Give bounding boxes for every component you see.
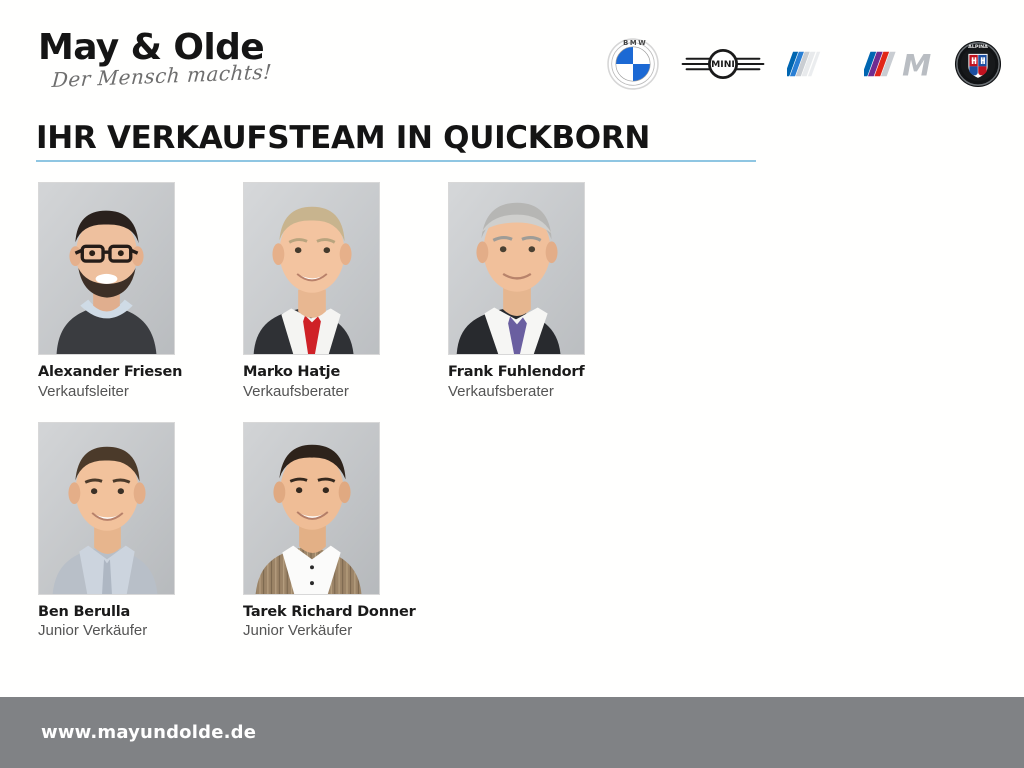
member-photo (243, 182, 380, 355)
page-title-block: IHR VERKAUFSTEAM IN QUICKBORN (36, 122, 796, 162)
team-row: Alexander Friesen Verkaufsleiter (38, 182, 988, 401)
alpina-logo: ALPINA (954, 40, 1002, 88)
member-name: Alexander Friesen (38, 364, 175, 381)
portrait-marko-hatje-icon (244, 183, 379, 354)
member-photo (448, 182, 585, 355)
svg-text:M: M (902, 49, 931, 81)
member-name: Marko Hatje (243, 364, 380, 381)
mini-wings-icon: MINI (681, 44, 765, 84)
bmw-m-icon: M (864, 47, 932, 81)
footer-website-url[interactable]: www.mayundolde.de (41, 722, 256, 743)
member-photo (243, 422, 380, 595)
member-photo (38, 182, 175, 355)
member-photo (38, 422, 175, 595)
svg-text:MINI: MINI (711, 59, 735, 70)
brand-logo-strip: B M W MINI (607, 36, 1002, 92)
member-name: Frank Fuhlendorf (448, 364, 585, 381)
bmw-roundel-icon: B M W (607, 38, 659, 90)
bmw-i-logo (787, 47, 842, 81)
team-member-card[interactable]: Frank Fuhlendorf Verkaufsberater (448, 182, 585, 401)
member-role: Junior Verkäufer (38, 622, 175, 640)
page-title: IHR VERKAUFSTEAM IN QUICKBORN (36, 122, 796, 155)
portrait-alexander-friesen-icon (39, 183, 174, 354)
member-role: Verkaufsleiter (38, 383, 175, 401)
team-member-card[interactable]: Ben Berulla Junior Verkäufer (38, 422, 175, 641)
member-name: Ben Berulla (38, 604, 175, 621)
alpina-badge-icon: ALPINA (954, 40, 1002, 88)
svg-text:B: B (623, 39, 628, 47)
header: May & Olde Der Mensch machts! B M W (0, 0, 1024, 110)
svg-text:W: W (638, 39, 646, 47)
member-role: Verkaufsberater (448, 383, 585, 401)
member-name: Tarek Richard Donner (243, 604, 380, 621)
slide-root: May & Olde Der Mensch machts! B M W (0, 0, 1024, 768)
team-member-card[interactable]: Tarek Richard Donner Junior Verkäufer (243, 422, 380, 641)
bmw-m-logo: M (864, 47, 932, 81)
bmw-i-icon (787, 47, 842, 81)
footer: www.mayundolde.de (0, 697, 1024, 768)
portrait-ben-berulla-icon (39, 423, 174, 594)
team-grid: Alexander Friesen Verkaufsleiter (38, 182, 988, 661)
team-row: Ben Berulla Junior Verkäufer (38, 422, 988, 641)
portrait-tarek-richard-donner-icon (244, 423, 379, 594)
team-member-card[interactable]: Alexander Friesen Verkaufsleiter (38, 182, 175, 401)
svg-text:ALPINA: ALPINA (968, 44, 988, 50)
member-role: Verkaufsberater (243, 383, 380, 401)
mini-logo: MINI (681, 44, 765, 84)
svg-text:M: M (630, 39, 637, 47)
member-role: Junior Verkäufer (243, 622, 380, 640)
team-member-card[interactable]: Marko Hatje Verkaufsberater (243, 182, 380, 401)
portrait-frank-fuhlendorf-icon (449, 183, 584, 354)
company-logo[interactable]: May & Olde Der Mensch machts! (38, 30, 338, 105)
bmw-logo: B M W (607, 38, 659, 90)
title-underline (36, 160, 756, 162)
